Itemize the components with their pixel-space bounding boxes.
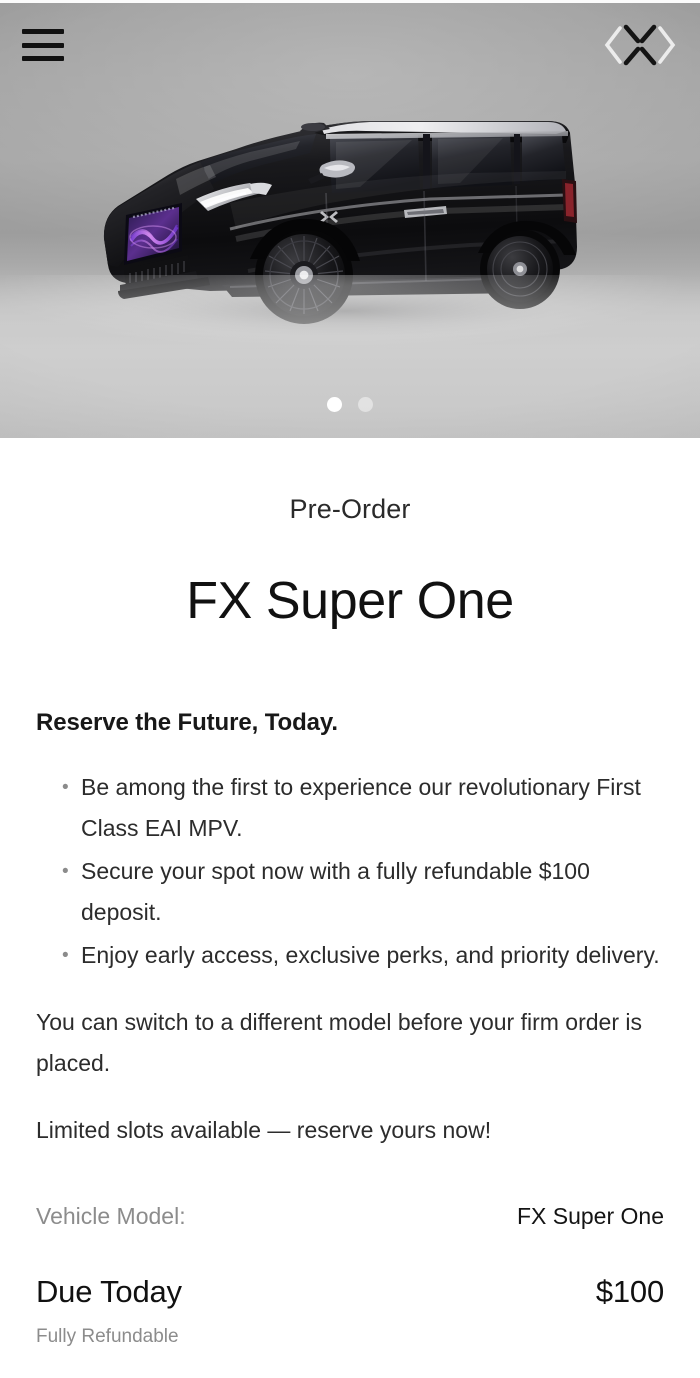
bullet-dot-icon: •	[62, 851, 81, 933]
list-item-text: Secure your spot now with a fully refund…	[81, 851, 664, 933]
bullet-dot-icon: •	[62, 767, 81, 849]
due-today-amount: $100	[596, 1274, 664, 1310]
list-item-text: Be among the first to experience our rev…	[81, 767, 664, 849]
limited-slots-note: Limited slots available — reserve yours …	[36, 1110, 664, 1151]
hamburger-bar-2	[22, 43, 64, 48]
vehicle-model-label: Vehicle Model:	[36, 1203, 186, 1230]
studio-floor-sheen	[0, 275, 700, 438]
switch-model-note: You can switch to a different model befo…	[36, 1002, 664, 1084]
fully-refundable-note: Fully Refundable	[36, 1326, 664, 1348]
preorder-details: Pre-Order FX Super One Reserve the Futur…	[0, 494, 700, 1348]
list-item: • Secure your spot now with a fully refu…	[36, 851, 664, 933]
section-lede: Reserve the Future, Today.	[36, 709, 664, 737]
benefits-list: • Be among the first to experience our r…	[36, 767, 664, 976]
hero-carousel[interactable]	[0, 3, 700, 438]
vehicle-model-row: Vehicle Model: FX Super One	[36, 1203, 664, 1230]
list-item-text: Enjoy early access, exclusive perks, and…	[81, 935, 664, 976]
hamburger-menu-icon[interactable]	[22, 25, 64, 65]
carousel-dot-2[interactable]	[358, 397, 373, 412]
vehicle-model-value: FX Super One	[517, 1203, 664, 1230]
carousel-dot-1[interactable]	[327, 397, 342, 412]
list-item: • Be among the first to experience our r…	[36, 767, 664, 849]
due-today-label: Due Today	[36, 1274, 182, 1310]
carousel-dots[interactable]	[0, 397, 700, 412]
fx-brand-logo-icon[interactable]	[598, 19, 682, 71]
list-item: • Enjoy early access, exclusive perks, a…	[36, 935, 664, 976]
hamburger-bar-1	[22, 29, 64, 34]
bullet-dot-icon: •	[62, 935, 81, 976]
page-eyebrow: Pre-Order	[36, 494, 664, 525]
due-today-row: Due Today $100	[36, 1274, 664, 1310]
hamburger-bar-3	[22, 56, 64, 61]
page-title: FX Super One	[36, 571, 664, 631]
